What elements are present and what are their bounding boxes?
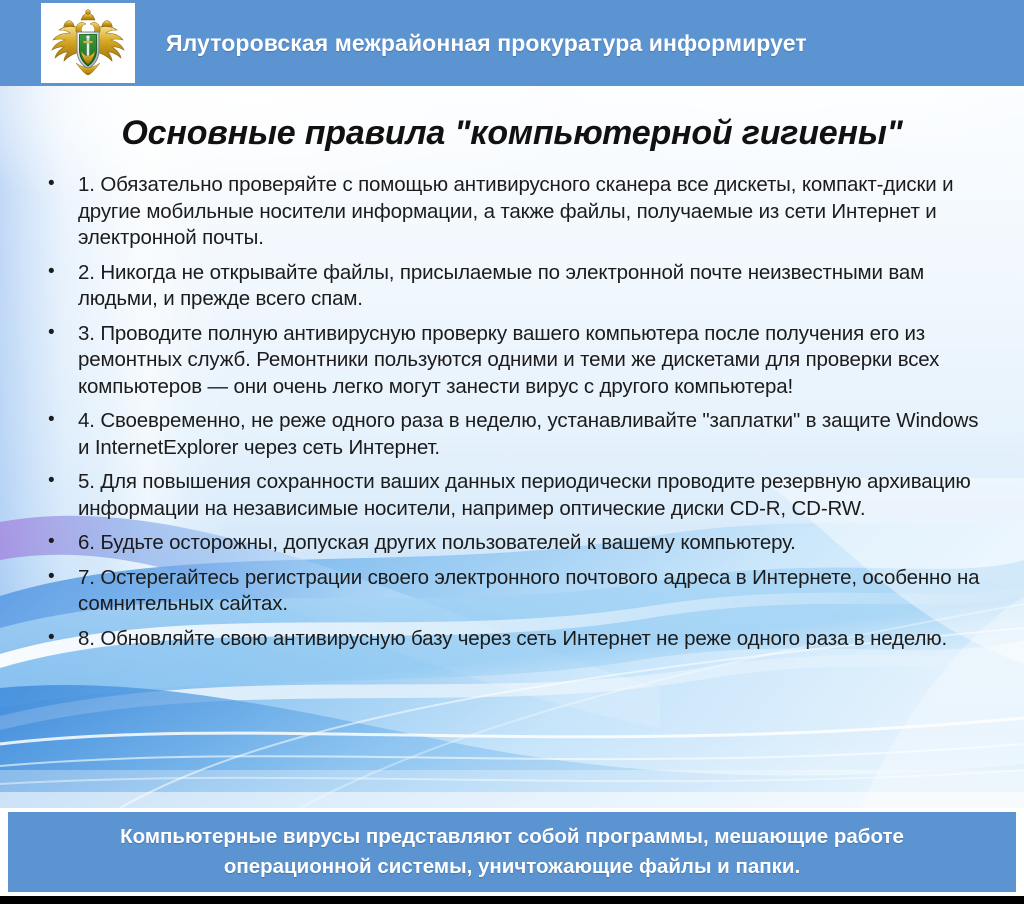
russian-prosecutor-office-emblem-icon <box>49 8 127 78</box>
footer-band: Компьютерные вирусы представляют собой п… <box>8 812 1016 892</box>
list-item: 5. Для повышения сохранности ваших данны… <box>38 469 986 522</box>
header-band: Ялуторовская межрайонная прокуратура инф… <box>0 0 1024 86</box>
rules-list: 1. Обязательно проверяйте с помощью анти… <box>38 172 986 660</box>
list-item: 3. Проводите полную антивирусную проверк… <box>38 321 986 401</box>
list-item: 6. Будьте осторожны, допуская других пол… <box>38 530 986 557</box>
footer-line-1: Компьютерные вирусы представляют собой п… <box>120 822 904 852</box>
list-item: 2. Никогда не открывайте файлы, присылае… <box>38 260 986 313</box>
header-title: Ялуторовская межрайонная прокуратура инф… <box>166 0 807 86</box>
content-panel: Основные правила "компьютерной гигиены" … <box>0 86 1024 808</box>
bottom-edge <box>0 896 1024 904</box>
list-item: 7. Остерегайтесь регистрации своего элек… <box>38 565 986 618</box>
page-title: Основные правила "компьютерной гигиены" <box>0 114 1024 153</box>
list-item: 4. Своевременно, не реже одного раза в н… <box>38 408 986 461</box>
list-item: 8. Обновляйте свою антивирусную базу чер… <box>38 626 986 653</box>
poster-root: Ялуторовская межрайонная прокуратура инф… <box>0 0 1024 904</box>
emblem-box <box>41 3 135 83</box>
list-item: 1. Обязательно проверяйте с помощью анти… <box>38 172 986 252</box>
footer-line-2: операционной системы, уничтожающие файлы… <box>224 852 800 882</box>
